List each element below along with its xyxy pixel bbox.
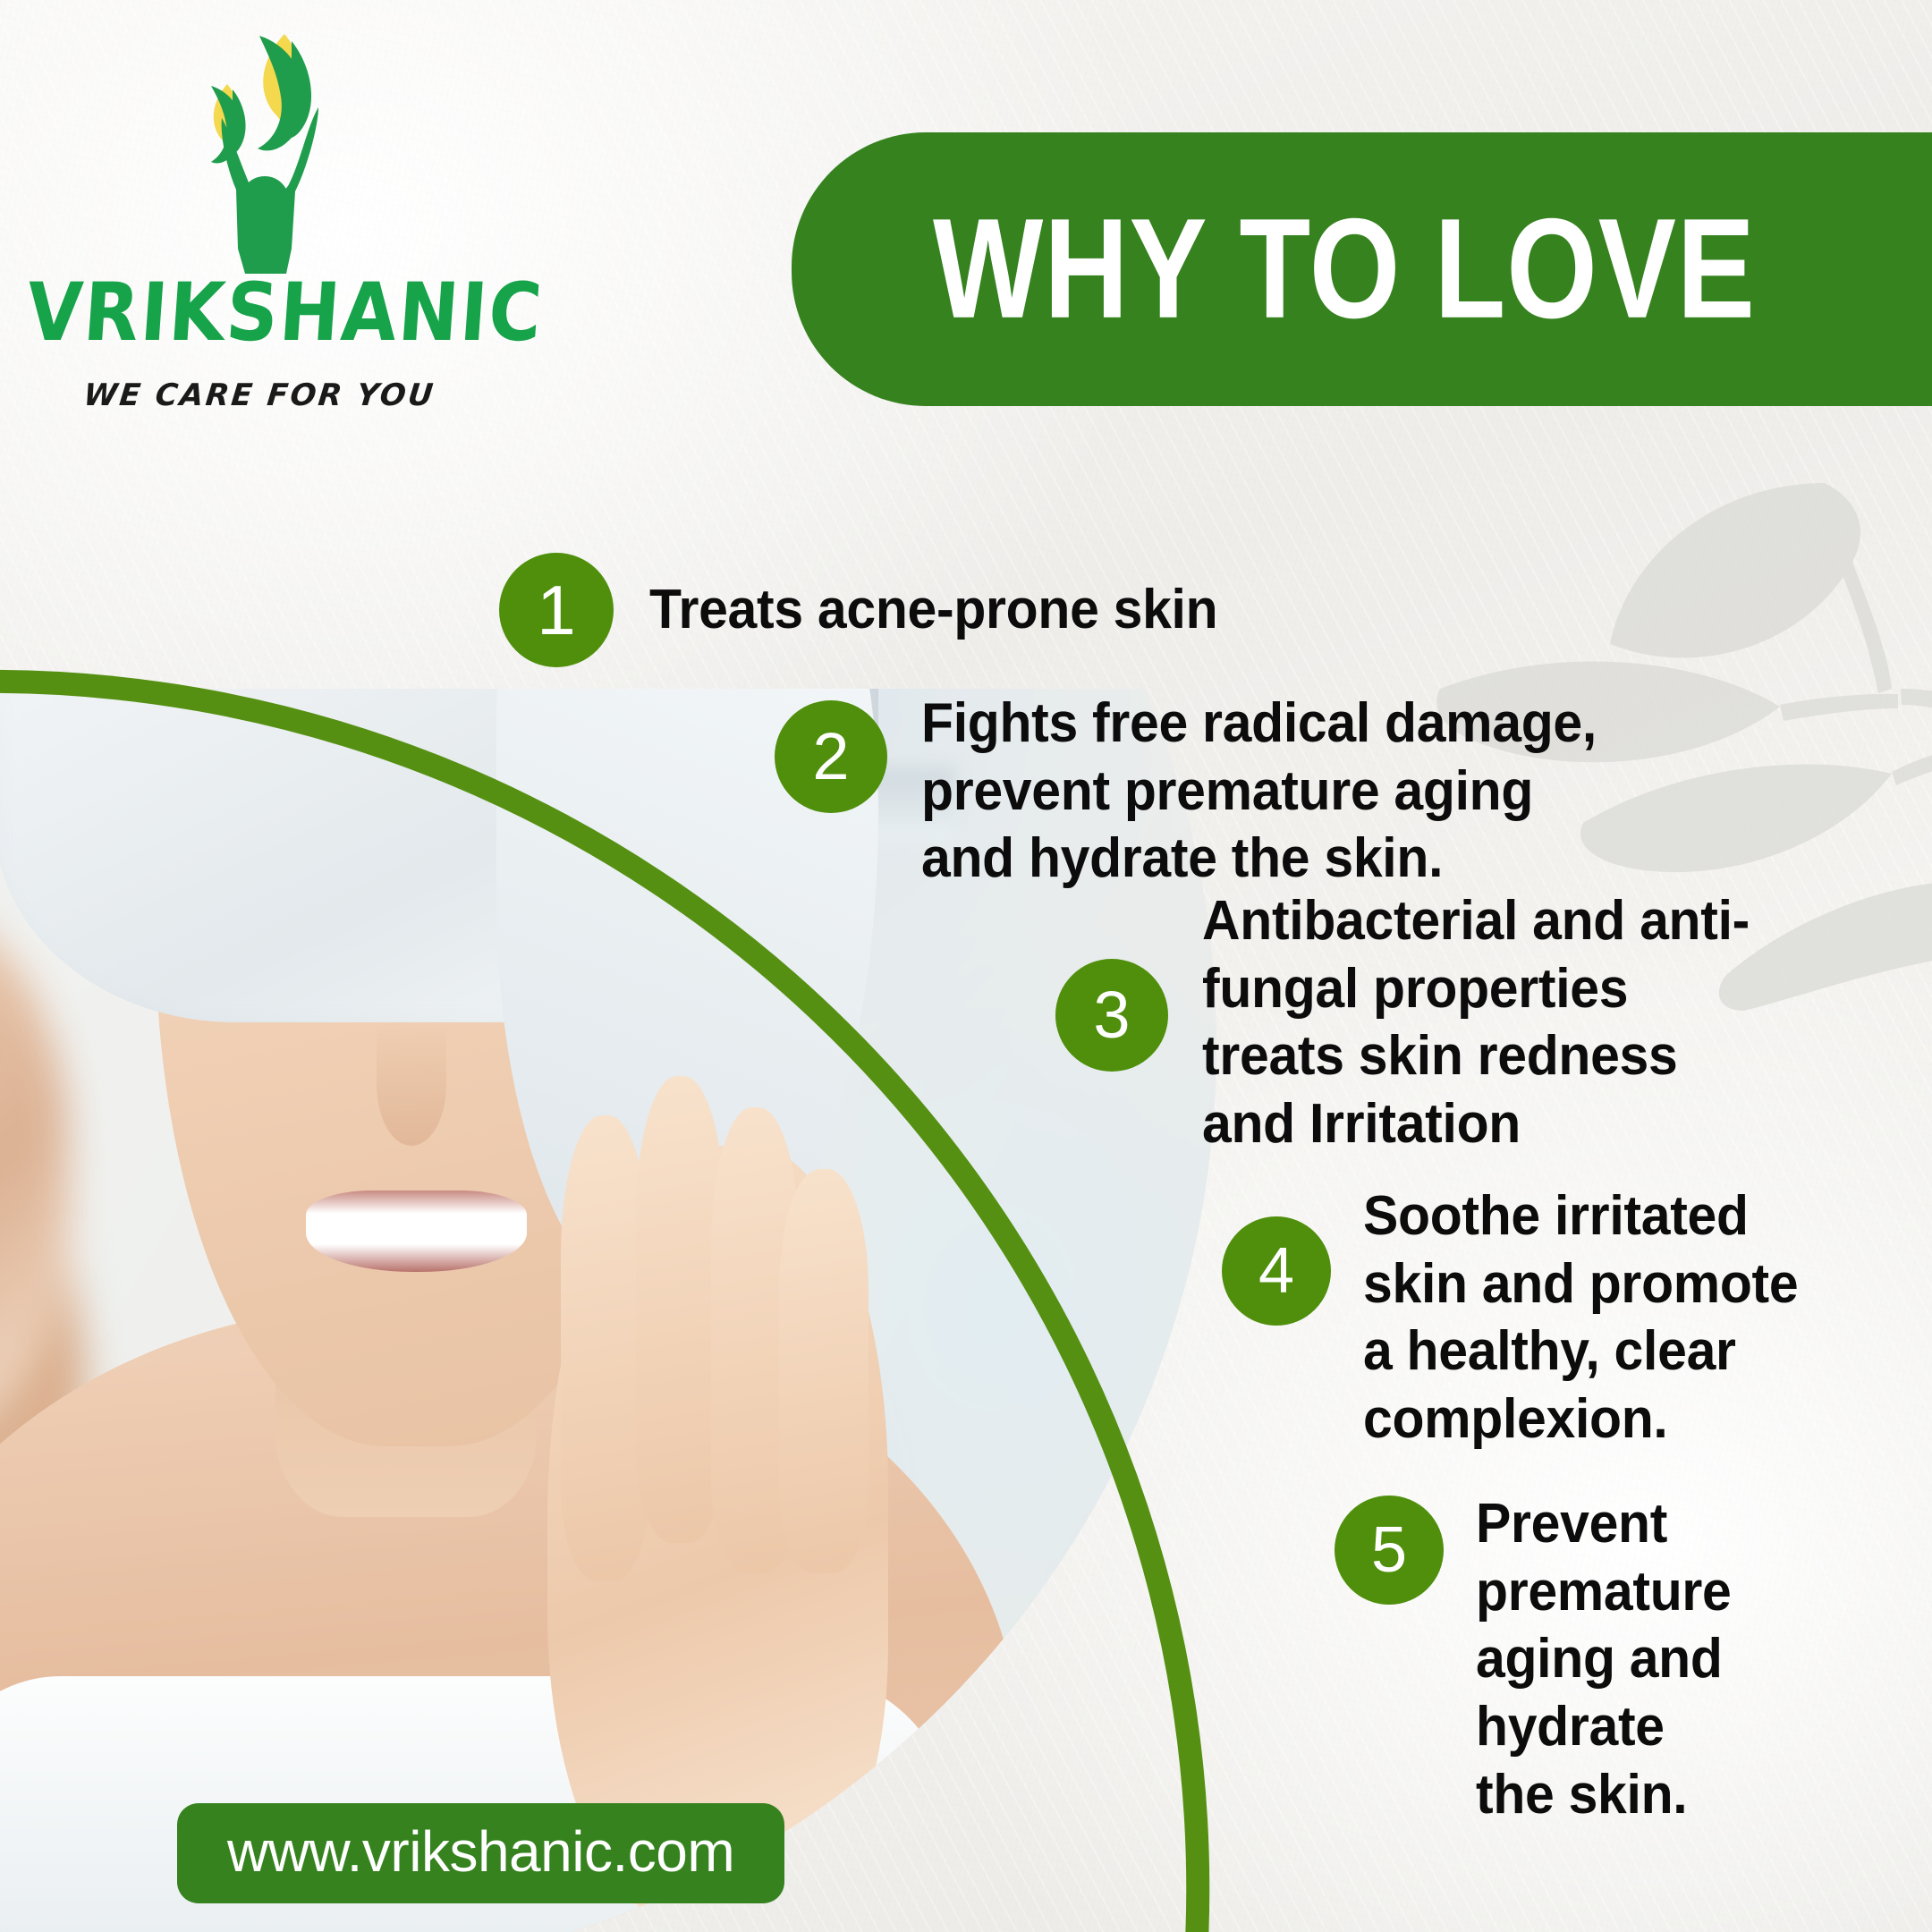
benefit-text: Soothe irritated skin and promote a heal… <box>1363 1182 1805 1453</box>
benefit-text: Treats acne-prone skin <box>649 576 1295 644</box>
benefit-text: Antibacterial and anti-fungal properties… <box>1202 887 1772 1158</box>
benefit-number-badge: 4 <box>1222 1216 1331 1326</box>
benefit-item-3: 3 Antibacterial and anti-fungal properti… <box>1055 894 1801 1158</box>
benefit-number-badge: 5 <box>1335 1496 1444 1605</box>
benefit-item-5: 5 Prevent premature aging and hydrate th… <box>1335 1496 1771 1828</box>
website-url: www.vrikshanic.com <box>227 1819 734 1884</box>
benefit-number-badge: 1 <box>499 553 614 667</box>
benefit-item-4: 4 Soothe irritated skin and promote a he… <box>1222 1190 1828 1453</box>
brand-tagline: WE CARE FOR YOU <box>25 377 494 413</box>
page-title: WHY TO LOVE <box>933 198 1756 340</box>
poster-canvas: VRIKSHANIC WE CARE FOR YOU WHY TO LOVE 1… <box>0 0 1932 1932</box>
benefit-text: Fights free radical damage, prevent prem… <box>921 690 1627 893</box>
benefit-number-badge: 3 <box>1055 959 1168 1072</box>
website-badge[interactable]: www.vrikshanic.com <box>177 1803 784 1903</box>
brand-logo[interactable]: VRIKSHANIC WE CARE FOR YOU <box>27 18 492 420</box>
leaf-flame-person-icon <box>159 25 374 284</box>
benefit-number-badge: 2 <box>775 700 887 813</box>
header-banner: WHY TO LOVE <box>792 132 1932 406</box>
benefit-item-1: 1 Treats acne-prone skin <box>499 553 1329 667</box>
brand-name: VRIKSHANIC <box>24 273 495 353</box>
benefit-item-2: 2 Fights free radical damage, prevent pr… <box>775 693 1664 893</box>
benefit-text: Prevent premature aging and hydrate the … <box>1476 1490 1757 1828</box>
